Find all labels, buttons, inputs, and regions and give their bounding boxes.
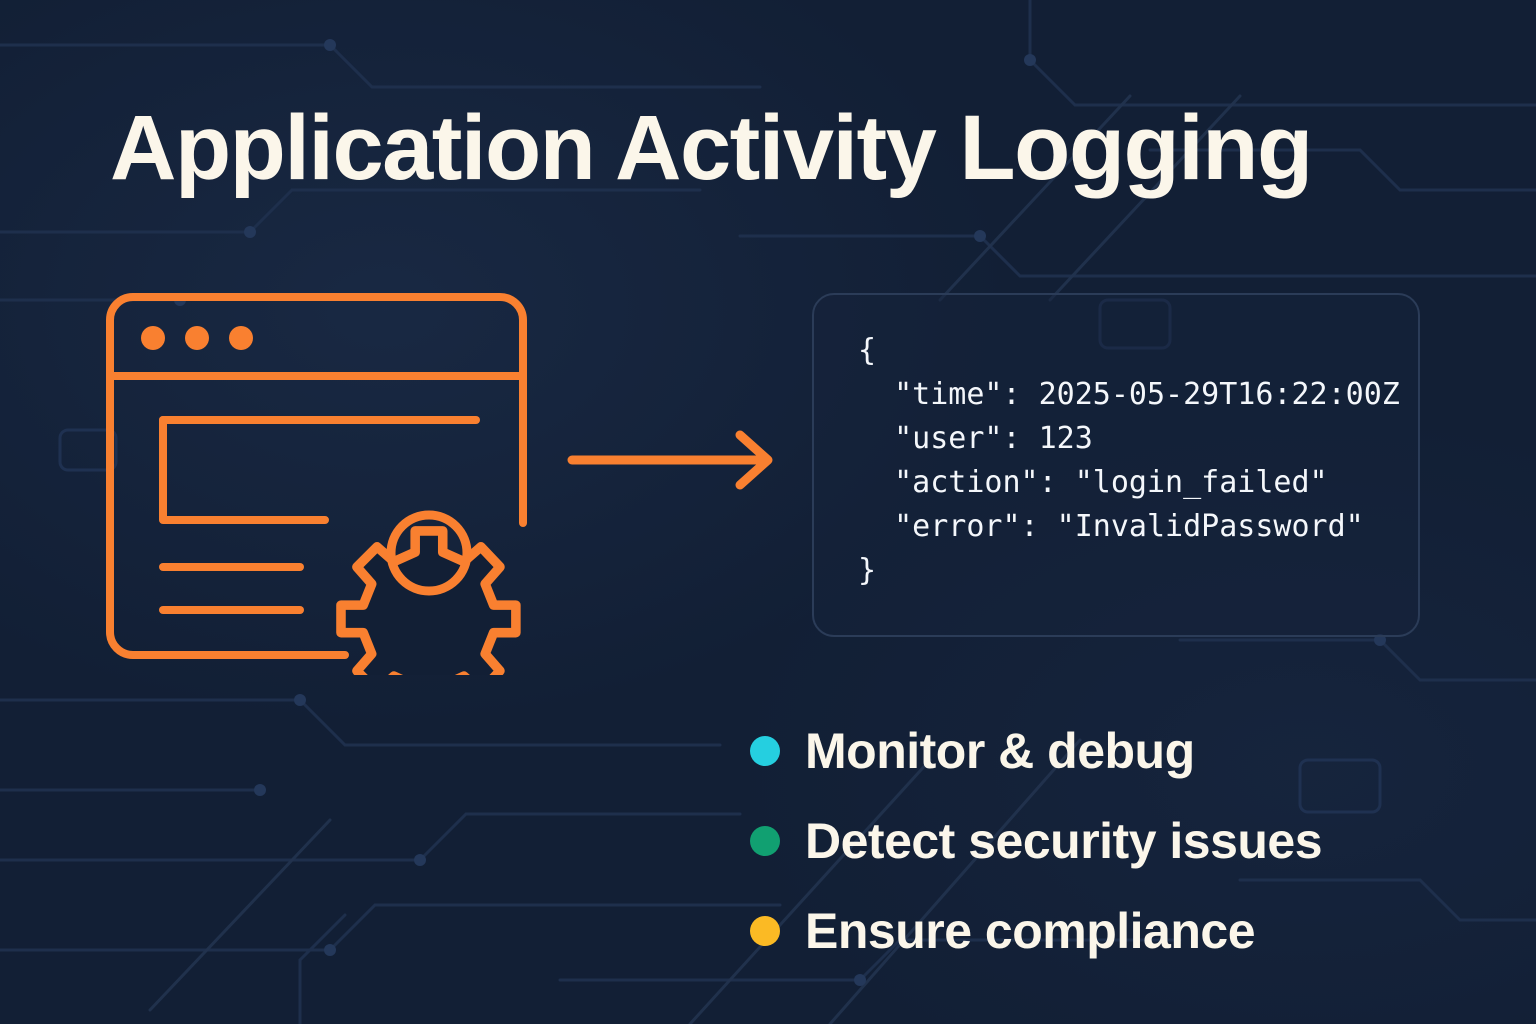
window-titlebar-dots bbox=[141, 326, 253, 350]
arrow-right-icon bbox=[560, 425, 790, 495]
bullet-dot-icon bbox=[750, 916, 780, 946]
list-item-label: Detect security issues bbox=[805, 813, 1322, 869]
benefits-list: Monitor & debug Detect security issues E… bbox=[750, 706, 1450, 976]
infographic-canvas: Application Activity Logging bbox=[0, 0, 1536, 1024]
log-code-panel: { "time": 2025-05-29T16:22:00Z "user": 1… bbox=[812, 293, 1420, 637]
list-item: Detect security issues bbox=[750, 796, 1450, 886]
log-json-text: { "time": 2025-05-29T16:22:00Z "user": 1… bbox=[858, 333, 1400, 588]
list-item-label: Ensure compliance bbox=[805, 903, 1255, 959]
list-item-label: Monitor & debug bbox=[805, 723, 1195, 779]
bullet-dot-icon bbox=[750, 736, 780, 766]
page-title: Application Activity Logging bbox=[110, 92, 1430, 204]
browser-window-icon bbox=[95, 285, 555, 675]
list-item: Monitor & debug bbox=[750, 706, 1450, 796]
log-json-code: { "time": 2025-05-29T16:22:00Z "user": 1… bbox=[858, 329, 1418, 593]
list-item: Ensure compliance bbox=[750, 886, 1450, 976]
gear-icon bbox=[341, 515, 516, 675]
bullet-dot-icon bbox=[750, 826, 780, 856]
